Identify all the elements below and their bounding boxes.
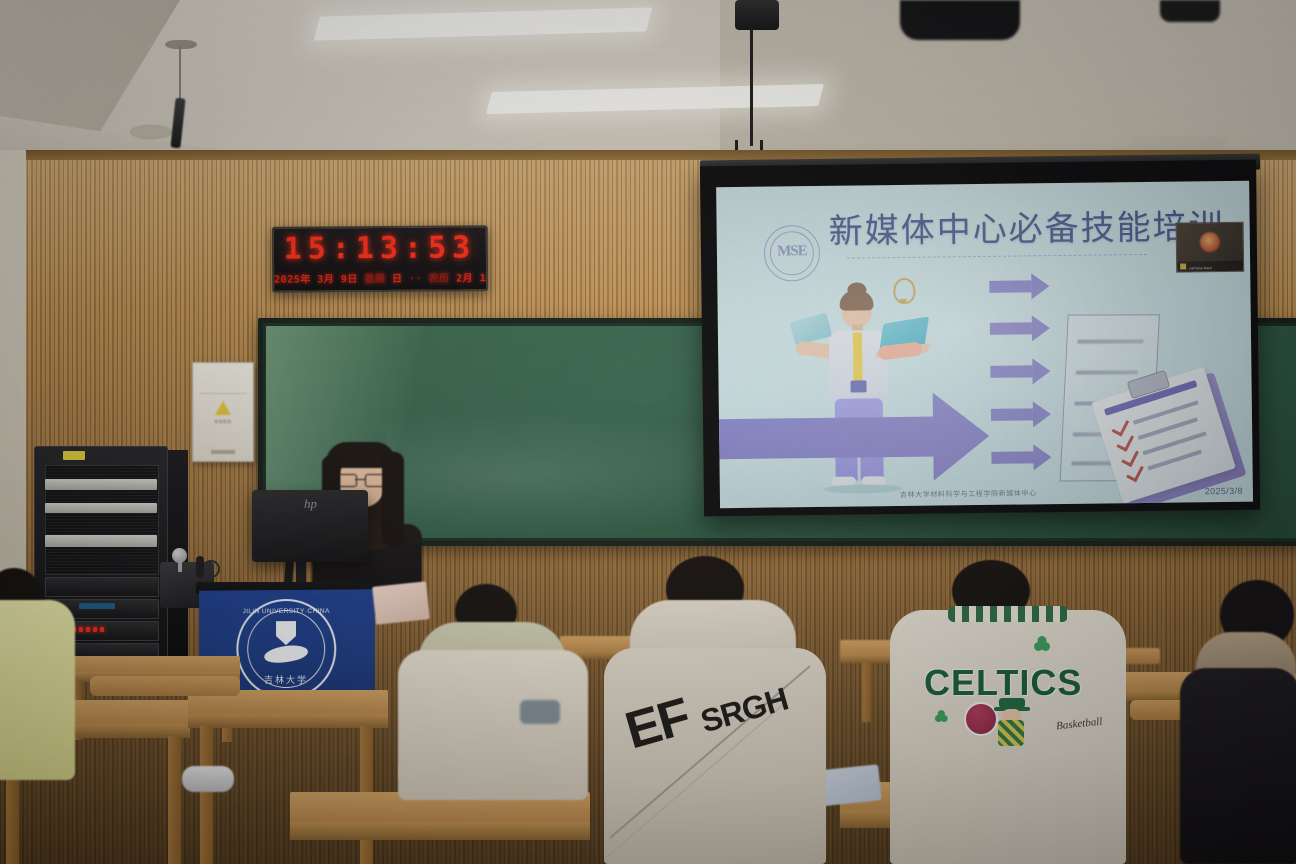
- clover-icon: [1034, 642, 1043, 651]
- hp-logo: hp: [304, 496, 317, 512]
- shoe: [182, 766, 234, 792]
- student-darkcoat-body: [1180, 668, 1296, 864]
- slide-person-hair: [839, 290, 873, 310]
- mascot-vest: [998, 720, 1024, 746]
- student-ef-jacket: EF SRGH: [604, 648, 826, 864]
- clock-dots: ··: [409, 274, 422, 285]
- slide-person-shadow: [824, 484, 902, 494]
- jacket-collar-stripe: [948, 606, 1068, 622]
- inset-status-dot-icon: [1180, 263, 1186, 269]
- rack-led-6: [86, 627, 90, 632]
- slide-doc-line-2: [1076, 370, 1138, 374]
- slide-book-icon: [789, 313, 832, 346]
- slide-arrow-5: [991, 451, 1033, 464]
- chair-mid-left: [90, 676, 240, 696]
- desk-leg-6: [200, 726, 213, 864]
- inset-toolbar: camera-feed: [1177, 261, 1243, 272]
- ceiling-mount-plate: [165, 40, 197, 49]
- ceiling-dark-fixture: [900, 0, 1020, 40]
- desk-front-left2-edge: [188, 714, 388, 728]
- desk-leg-1: [862, 662, 871, 722]
- presentation-slide: MSE 新媒体中心必备技能培训 camera-feed: [716, 181, 1253, 508]
- slide-person-badge: [851, 380, 867, 392]
- rack-unit-1[interactable]: [45, 479, 157, 490]
- seal-ring-text: JILIN UNIVERSITY·CHINA: [238, 607, 334, 615]
- presenter-glasses-icon: [336, 474, 384, 486]
- digital-wall-clock: 15:13:53 2025年 3月 9日 星期 日 ·· 农历 2月 10日: [272, 225, 488, 293]
- jacket-script-text: Basketball: [1056, 716, 1103, 733]
- jilin-university-seal-icon: JILIN UNIVERSITY·CHINA 吉林大学: [236, 598, 336, 699]
- slide-person-tie: [853, 332, 863, 380]
- student-celtics-jacket: CELTICS Basketball: [890, 610, 1126, 864]
- cable-loop: [202, 560, 220, 578]
- slide-title-underline: [847, 254, 1147, 259]
- desk-front-center-edge: [290, 822, 590, 840]
- presenter-hair-right: [382, 452, 404, 548]
- seal-chinese-text: 吉林大学: [238, 672, 334, 685]
- desk-leg-5: [168, 736, 181, 864]
- slide-lightbulb-base: [900, 299, 907, 303]
- slide-main-arrow-body: [719, 417, 935, 460]
- rack-unit-4[interactable]: [45, 577, 159, 597]
- projector-mount: [735, 0, 779, 30]
- slide-arrow-3: [990, 365, 1032, 378]
- rack-led-7: [93, 627, 97, 632]
- mse-logo-text: MSE: [765, 243, 819, 261]
- glasses-lens-right: [365, 474, 386, 487]
- glasses-bridge: [355, 479, 365, 480]
- slide-doc-line-1: [1077, 339, 1143, 343]
- clock-weekday-value: 日: [392, 274, 403, 285]
- slide-footer-text: 吉林大学材料科学与工程学院新媒体中心: [900, 488, 1037, 500]
- clock-year: 2025年: [274, 274, 311, 285]
- leprechaun-mascot-icon: [990, 698, 1032, 754]
- classroom-photo: 有电危险 15:13:53 2025年 3月 9日 星期 日 ·· 农历 2月 …: [0, 0, 1296, 864]
- wall-left-column: [0, 150, 26, 580]
- clock-lunar-label: 农历: [428, 274, 449, 285]
- slide-arrow-2: [990, 322, 1032, 335]
- student-left-yellow-jacket: [0, 600, 75, 780]
- clock-weekday-label: 星期: [364, 274, 385, 285]
- ceiling-mount-rod: [179, 46, 181, 100]
- hp-monitor[interactable]: hp: [252, 490, 368, 562]
- rack-unit-2[interactable]: [45, 503, 157, 513]
- clock-month: 3月: [317, 274, 334, 285]
- rack-unit-3[interactable]: [45, 535, 157, 547]
- ceiling-dark-fixture-2: [1160, 0, 1220, 22]
- panel-label-bar: [211, 450, 235, 454]
- clover-icon-2: [935, 715, 942, 722]
- rack-led-5: [79, 627, 83, 632]
- clock-date-display: 2025年 3月 9日 星期 日 ·· 农历 2月 10日: [274, 269, 486, 285]
- clock-lunar-month: 2月: [456, 273, 473, 284]
- mse-logo-icon: MSE: [764, 225, 821, 282]
- glasses-lens-left: [336, 474, 357, 487]
- papers-on-podium: [372, 581, 430, 624]
- rack-display-strip: [79, 603, 115, 609]
- projector-mount-rod: [750, 28, 753, 146]
- bag-on-desk: [520, 700, 560, 724]
- slide-arrow-1: [989, 280, 1031, 293]
- clock-day: 9日: [341, 274, 358, 285]
- slide-person-illustration: [785, 280, 938, 502]
- ceiling-speaker-icon: [130, 125, 172, 139]
- inset-face: [1200, 232, 1220, 252]
- panel-seam: [199, 393, 247, 394]
- slide-date-text: 2025/3/8: [1205, 486, 1243, 496]
- slide-arrow-4: [991, 408, 1033, 421]
- seal-shield-icon: [276, 621, 296, 645]
- student-cream-jacket: [398, 650, 588, 800]
- electrical-panel: 有电危险: [192, 362, 254, 462]
- panel-warning-text: 有电危险: [193, 419, 253, 425]
- clock-lunar-day: 10日: [480, 273, 489, 284]
- camera-feed-inset: camera-feed: [1176, 222, 1245, 273]
- rack-sticker: [63, 451, 85, 460]
- seal-bird-icon: [263, 643, 309, 665]
- inset-label: camera-feed: [1189, 265, 1212, 270]
- slide-main-arrow-head: [933, 392, 990, 481]
- rack-led-8: [100, 627, 104, 632]
- clock-time-display: 15:13:53: [274, 230, 486, 266]
- microphone-stem: [178, 560, 182, 572]
- projection-screen: MSE 新媒体中心必备技能培训 camera-feed: [700, 160, 1260, 517]
- warning-triangle-icon: [215, 401, 231, 415]
- slide-clipboard-line-4: [1147, 450, 1202, 471]
